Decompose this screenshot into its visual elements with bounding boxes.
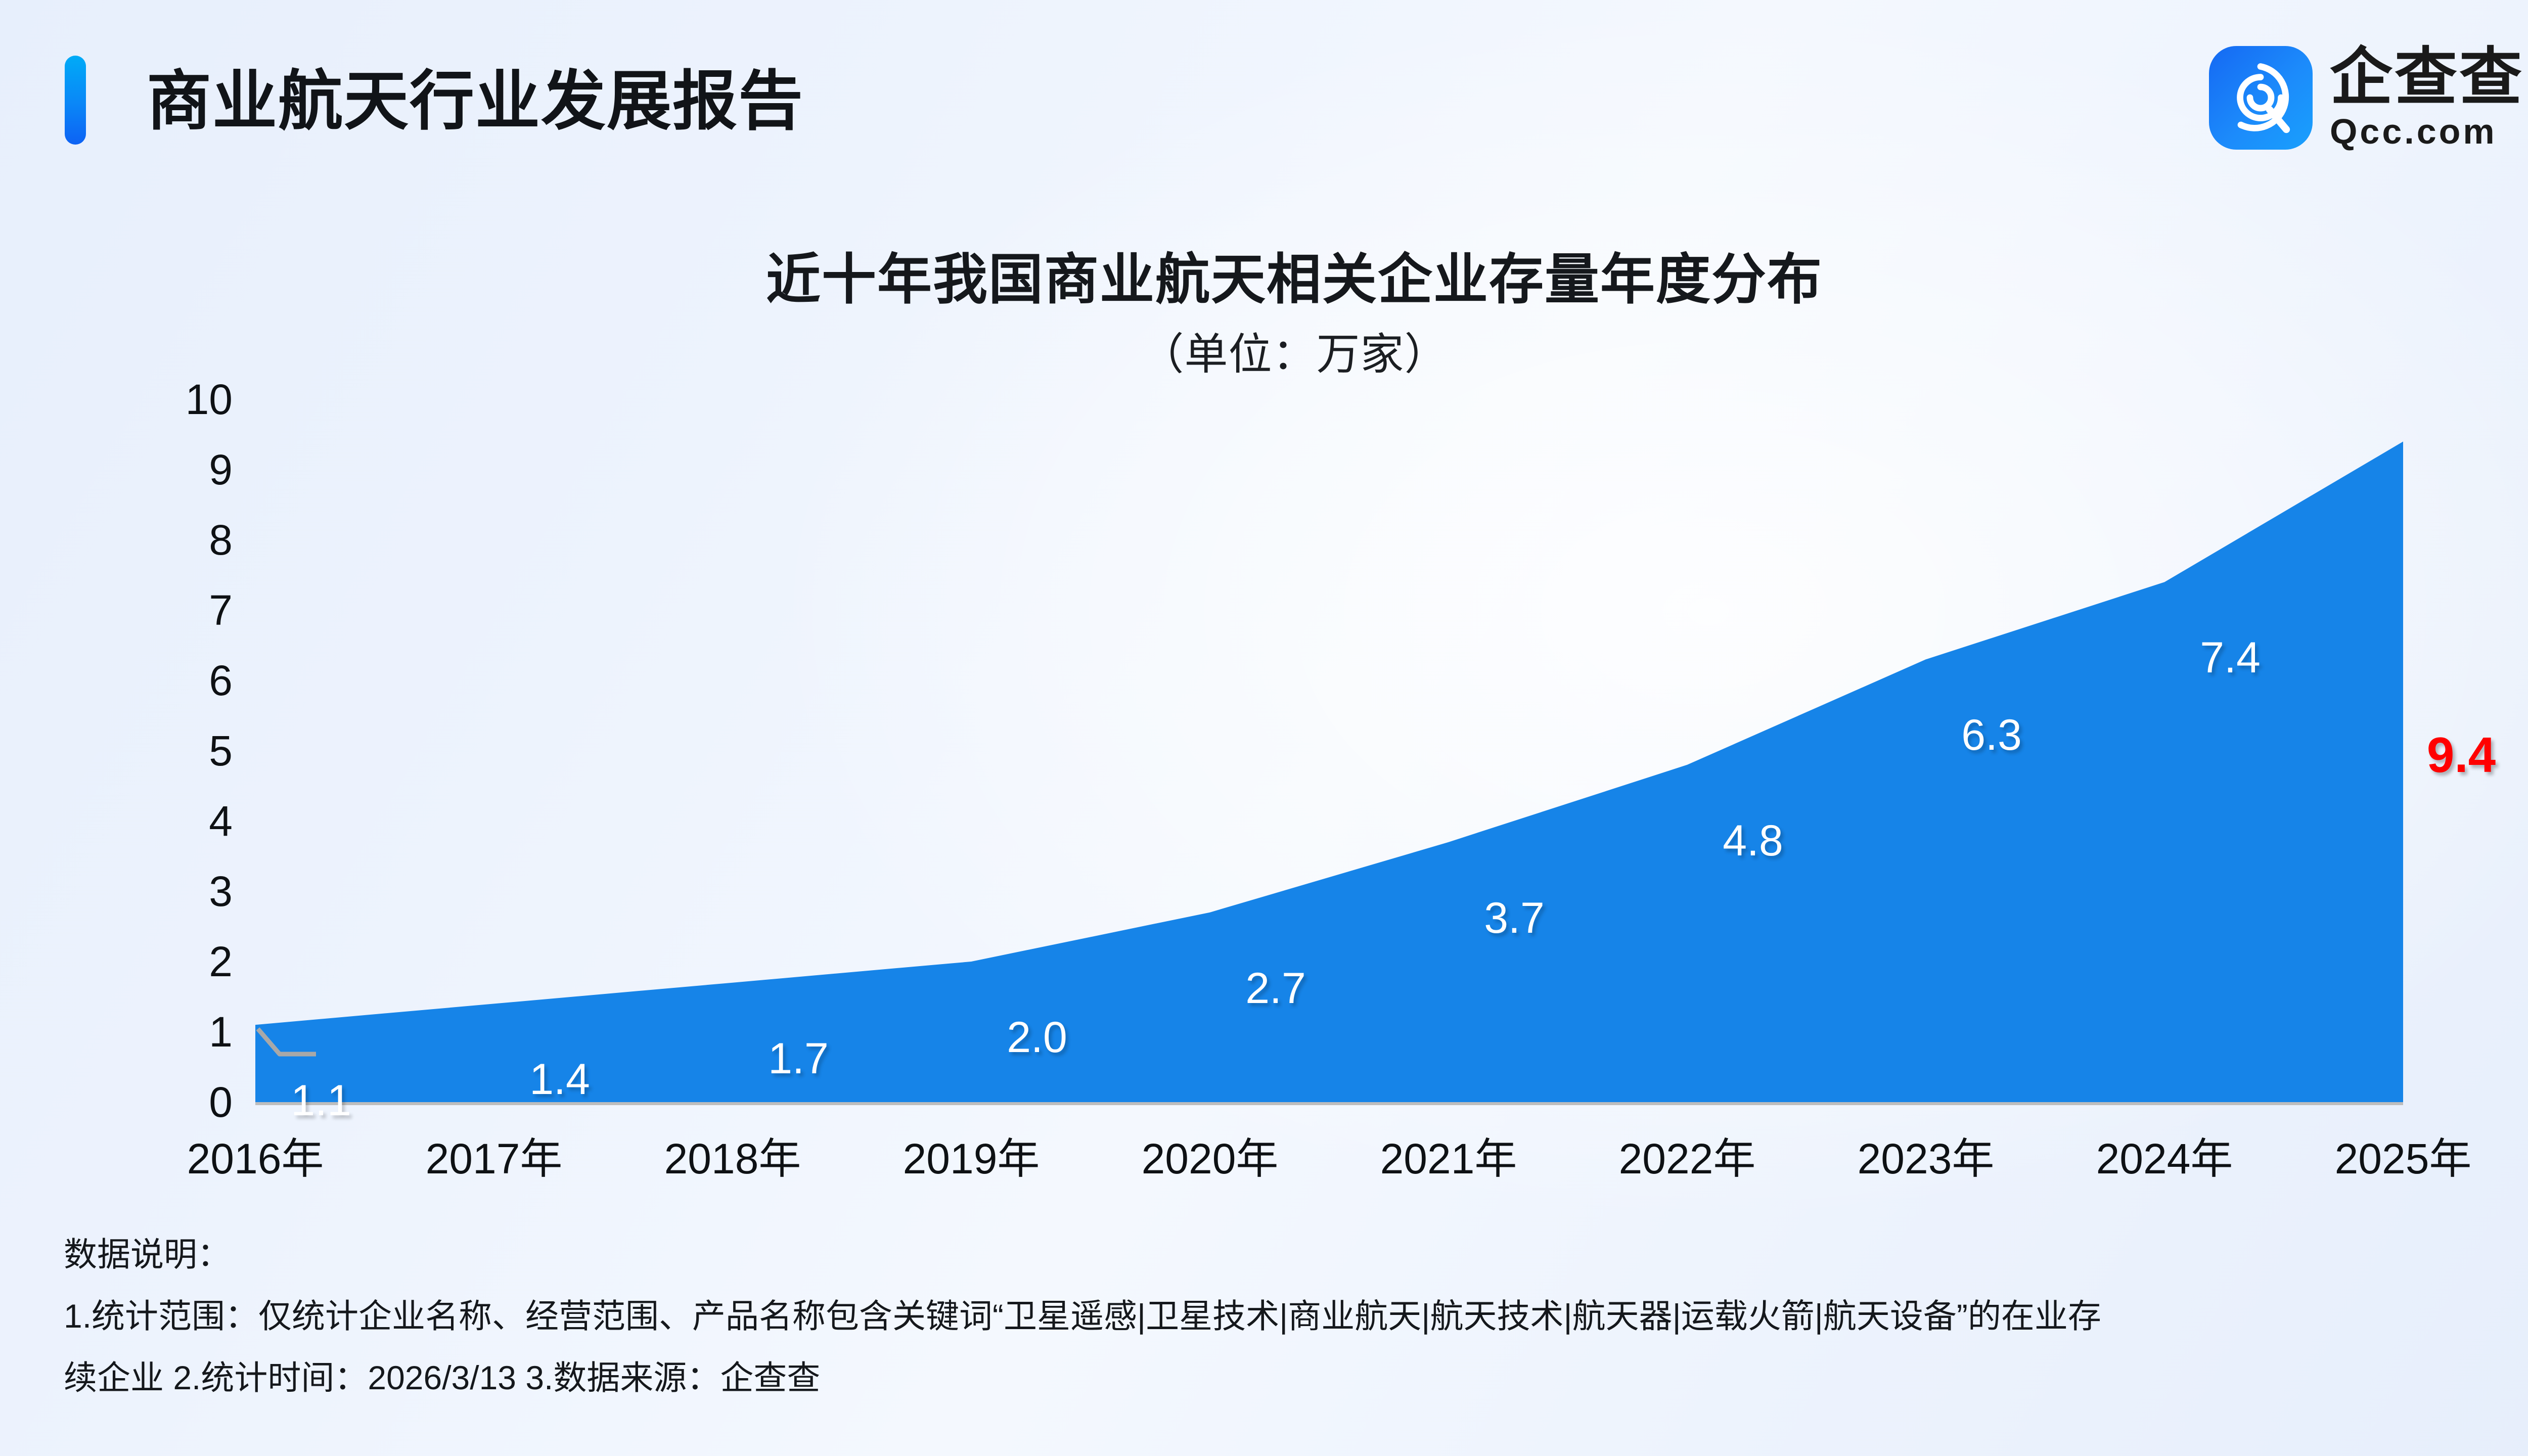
x-axis-tick: 2017年 [383, 1137, 605, 1180]
y-axis-tick: 9 [142, 448, 233, 491]
x-axis-tick: 2022年 [1576, 1137, 1798, 1180]
data-label: 7.4 [2200, 636, 2261, 679]
footnotes: 数据说明： 1.统计范围：仅统计企业名称、经营范围、产品名称包含关键词“卫星遥感… [64, 1238, 2528, 1423]
data-label: 1.4 [529, 1058, 590, 1101]
data-label: 2.0 [1007, 1016, 1067, 1059]
x-axis-tick: 2021年 [1337, 1137, 1560, 1180]
x-axis-tick: 2016年 [144, 1137, 367, 1180]
x-axis-tick: 2020年 [1099, 1137, 1321, 1180]
y-axis-tick: 10 [142, 378, 233, 421]
x-axis-tick: 2018年 [621, 1137, 844, 1180]
report-page: 商业航天行业发展报告 企查查 Qcc.com 近十年我国商业航天相关企业存量年度… [0, 0, 2528, 1456]
data-label: 6.3 [1961, 713, 2022, 757]
y-axis-tick: 1 [142, 1011, 233, 1053]
data-label: 4.8 [1723, 819, 1783, 862]
x-axis-tick: 2019年 [860, 1137, 1082, 1180]
notes-line-2: 续企业 2.统计时间：2026/3/13 3.数据来源：企查查 [64, 1361, 2528, 1394]
data-label: 1.1 [291, 1079, 351, 1122]
y-axis-tick: 5 [142, 730, 233, 772]
data-label: 3.7 [1484, 896, 1545, 940]
y-axis-tick: 7 [142, 589, 233, 631]
y-axis-tick: 3 [142, 870, 233, 913]
x-axis-tick: 2024年 [2053, 1137, 2276, 1180]
y-axis-tick: 0 [142, 1081, 233, 1123]
notes-line-1: 1.统计范围：仅统计企业名称、经营范围、产品名称包含关键词“卫星遥感|卫星技术|… [64, 1299, 2528, 1333]
x-axis-tick: 2023年 [1815, 1137, 2037, 1180]
area-series-shape [255, 441, 2403, 1102]
y-axis-tick: 4 [142, 800, 233, 842]
x-axis-tick: 2025年 [2292, 1137, 2514, 1180]
data-label-highlight: 9.4 [2427, 730, 2496, 780]
y-axis-tick: 2 [142, 940, 233, 983]
data-label: 2.7 [1245, 967, 1306, 1010]
notes-heading: 数据说明： [64, 1238, 2528, 1271]
y-axis-tick: 8 [142, 519, 233, 561]
data-label: 1.7 [768, 1037, 829, 1080]
y-axis-tick: 6 [142, 659, 233, 702]
